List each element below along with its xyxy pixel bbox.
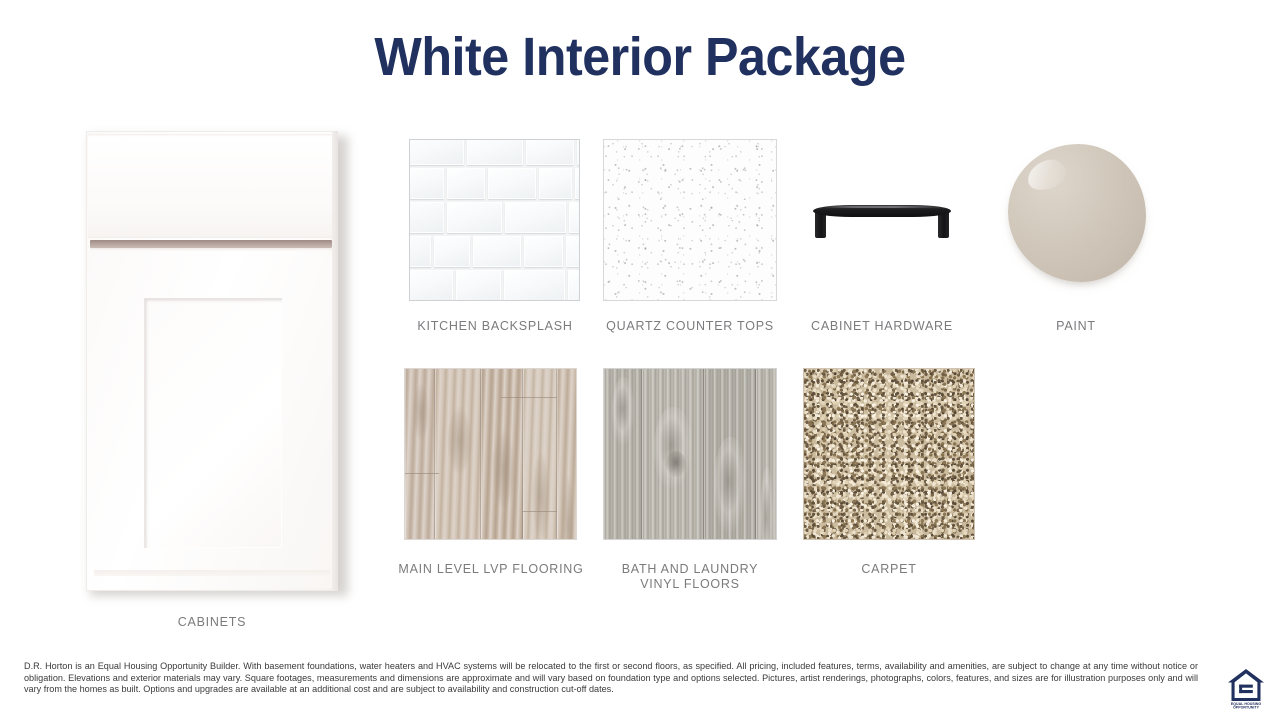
subway-tile: [409, 270, 453, 301]
swatch-cabinet-hardware: [813, 196, 951, 240]
legal-disclaimer: D.R. Horton is an Equal Housing Opportun…: [24, 661, 1198, 696]
swatch-kitchen-backsplash: [409, 139, 580, 301]
swatch-quartz-counter-tops: [603, 139, 777, 301]
lvp-texture-image: [404, 368, 577, 540]
eho-line2: OPPORTUNITY: [1233, 705, 1260, 709]
subway-tile: [505, 202, 565, 233]
subway-tile: [409, 236, 431, 267]
subway-tile: [577, 139, 580, 165]
paint-blob-image: [1008, 144, 1146, 282]
cabinet-lower-door: [88, 251, 336, 588]
swatch-label-paint: PAINT: [1000, 319, 1152, 334]
subway-tile: [409, 202, 444, 233]
subway-tile-row: [409, 139, 580, 165]
vinyl-grain-accent: [714, 437, 746, 535]
subway-tile: [504, 270, 564, 301]
lvp-grain-accent: [413, 383, 430, 441]
subway-tile-image: [409, 139, 580, 301]
lvp-end-seam: [501, 397, 557, 398]
subway-tile-row: [409, 202, 580, 233]
swatch-label-cabinet-hardware: CABINET HARDWARE: [790, 319, 974, 334]
vinyl-grain-accent: [612, 377, 636, 447]
swatch-label-quartz-counter-tops: QUARTZ COUNTER TOPS: [595, 319, 785, 334]
bar-pull-sheen: [823, 206, 941, 208]
vinyl-knot: [666, 451, 686, 477]
subway-tile-row: [409, 270, 580, 301]
cabinet-reveal-shadow: [90, 240, 332, 248]
equal-housing-opportunity-icon: EQUAL HOUSING OPPORTUNITY: [1226, 667, 1266, 709]
paint-gloss-highlight: [1024, 155, 1069, 193]
swatch-paint: [1008, 144, 1146, 282]
swatch-label-main-level-lvp-flooring: MAIN LEVEL LVP FLOORING: [395, 562, 587, 577]
swatch-label-cabinets: CABINETS: [86, 615, 338, 630]
pull-leg-right: [938, 212, 949, 238]
swatch-bath-and-laundry-vinyl-floors: [603, 368, 777, 540]
subway-tile: [524, 236, 563, 267]
pull-leg-left: [815, 212, 826, 238]
subway-tile: [447, 168, 485, 199]
subway-tile: [539, 168, 572, 199]
subway-tile-row: [409, 168, 580, 199]
subway-tile: [566, 236, 580, 267]
lvp-grain-accent: [447, 406, 472, 475]
subway-tile: [434, 236, 470, 267]
lvp-end-seam: [405, 473, 439, 474]
cabinet-drawer-front: [88, 134, 336, 238]
subway-tile: [456, 270, 501, 301]
subway-tile: [526, 139, 574, 165]
cabinet-door-image: [86, 131, 338, 591]
swatch-carpet: [803, 368, 975, 540]
swatch-label-kitchen-backsplash: KITCHEN BACKSPLASH: [400, 319, 590, 334]
subway-tile: [473, 236, 521, 267]
cabinet-bottom-rail: [94, 570, 330, 576]
subway-tile: [568, 270, 580, 301]
vinyl-grain-accent: [654, 407, 692, 491]
swatch-label-carpet: CARPET: [800, 562, 978, 577]
subway-tile: [467, 139, 523, 165]
subway-tile: [575, 168, 580, 199]
vinyl-texture-image: [603, 368, 777, 540]
cabinet-shaker-panel: [144, 298, 282, 548]
page-title: White Interior Package: [45, 26, 1235, 88]
lvp-end-seam: [523, 511, 557, 512]
cabinet-right-edge: [332, 131, 338, 591]
subway-tile-row: [409, 236, 580, 267]
lvp-grain-accent: [492, 429, 515, 509]
quartz-texture-image: [603, 139, 777, 301]
subway-tile: [409, 168, 444, 199]
subway-tile: [409, 139, 464, 165]
swatch-main-level-lvp-flooring: [404, 368, 577, 540]
swatch-cabinets: [86, 131, 344, 594]
lvp-grain-accent: [532, 452, 551, 540]
subway-tile: [569, 202, 580, 233]
subway-tile: [488, 168, 537, 199]
subway-tile: [447, 202, 502, 233]
swatch-label-bath-and-laundry-vinyl-floors: BATH AND LAUNDRY VINYL FLOORS: [600, 562, 780, 592]
carpet-texture-image: [803, 368, 975, 540]
